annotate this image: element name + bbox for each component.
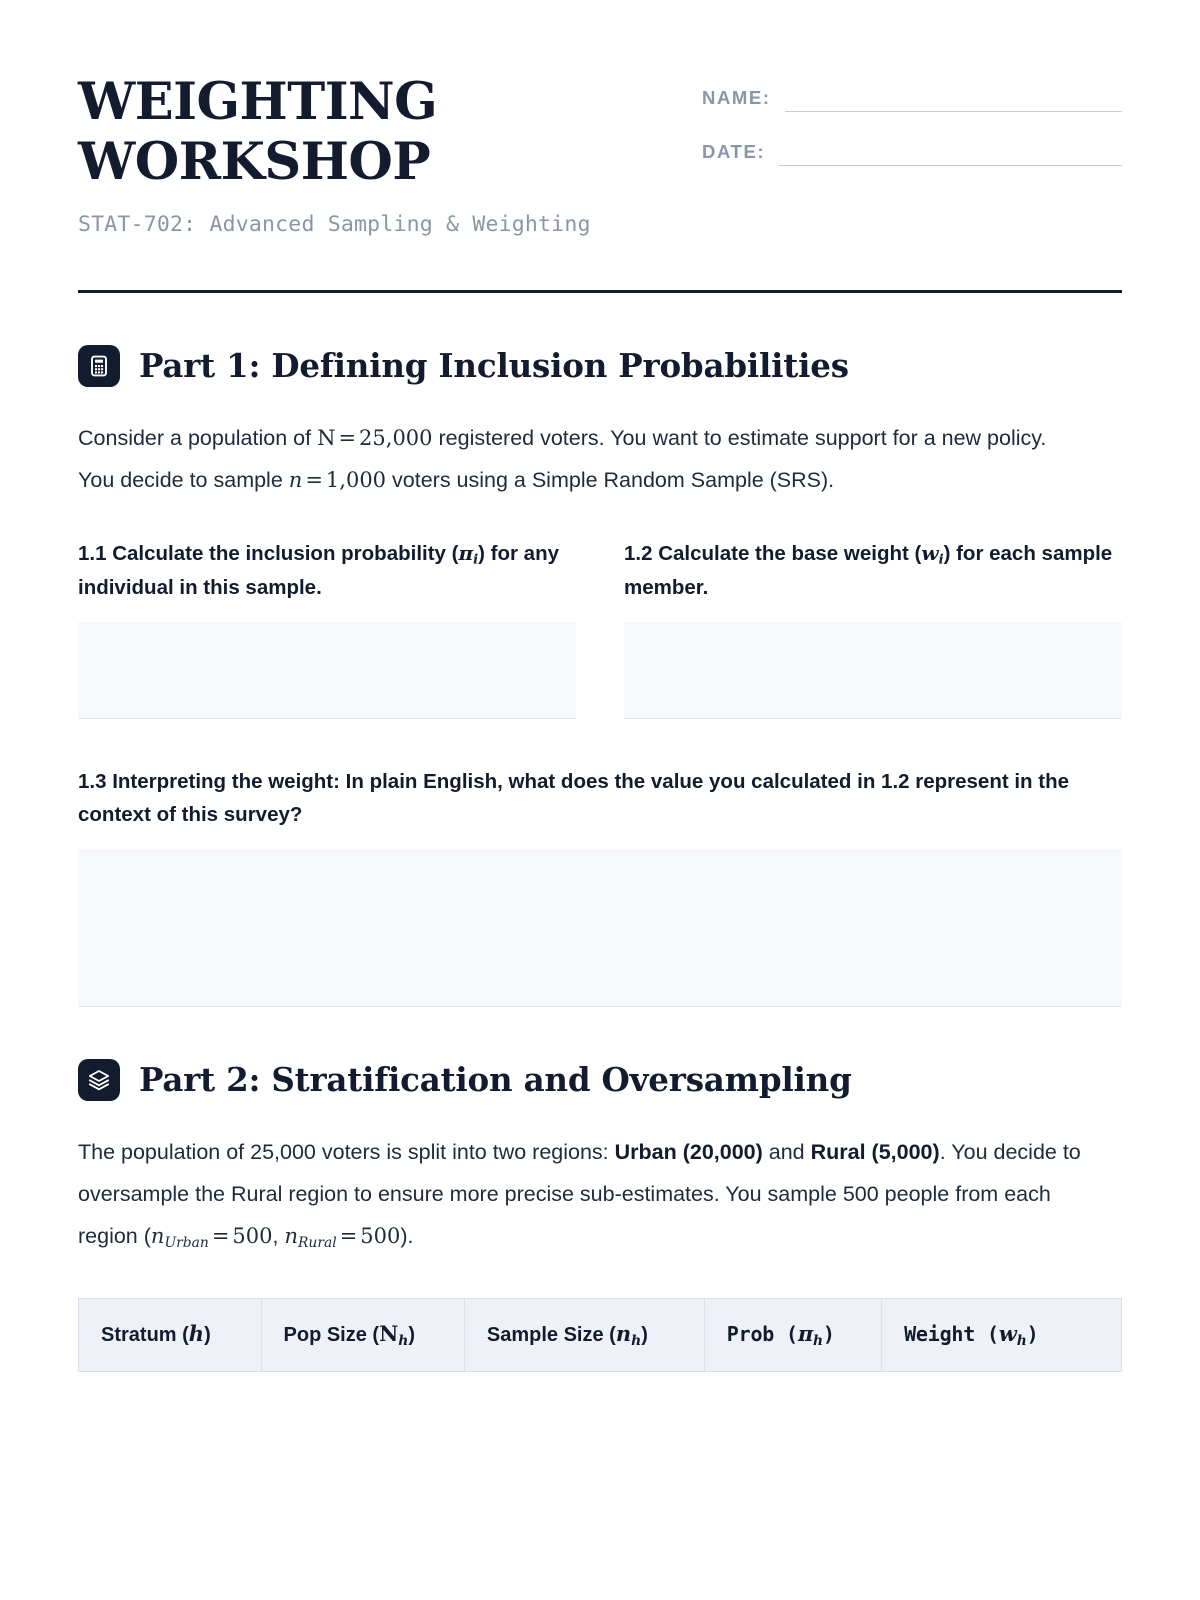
student-meta-block: NAME: DATE: [702, 66, 1122, 194]
p2-text-5: ). [400, 1224, 413, 1248]
col-header-sample-size: Sample Size (nh) [464, 1298, 704, 1371]
part-1-title: Part 1: Defining Inclusion Probabilities [139, 348, 849, 384]
col-header-weight-close: ) [1027, 1322, 1039, 1346]
intro-math-N: N=25,000 [317, 426, 432, 450]
q11-math-pi: πi [458, 541, 478, 565]
part-2-title: Part 2: Stratification and Oversampling [139, 1062, 852, 1098]
col-header-prob: Prob (πh) [704, 1298, 881, 1371]
name-row: NAME: [702, 86, 1122, 112]
date-label: DATE: [702, 141, 765, 166]
col-header-stratum-label: Stratum ( [101, 1324, 189, 1346]
document-header: WEIGHTING WORKSHOP STAT-702: Advanced Sa… [78, 66, 1122, 242]
p2-text-4: , [273, 1224, 285, 1248]
col-header-sample-size-sym: nh [616, 1321, 641, 1346]
question-1-1-label: 1.1 Calculate the inclusion probability … [78, 537, 576, 603]
col-header-prob-sym: πh [798, 1321, 823, 1346]
col-header-pop-size-sym: Nh [379, 1321, 408, 1346]
col-header-weight-sym: wh [999, 1321, 1027, 1346]
part-2-heading-row: Part 2: Stratification and Oversampling [78, 1059, 1122, 1101]
q12-text-1: 1.2 Calculate the base weight ( [624, 542, 921, 565]
answer-box-1-2[interactable] [624, 622, 1122, 719]
intro-math-n: n=1,000 [289, 468, 386, 492]
question-1-3-label: 1.3 Interpreting the weight: In plain En… [78, 765, 1122, 831]
col-header-prob-close: ) [823, 1322, 835, 1346]
header-divider [78, 290, 1122, 293]
part-1-heading-row: Part 1: Defining Inclusion Probabilities [78, 345, 1122, 387]
section-part-2: Part 2: Stratification and Oversampling … [78, 1059, 1122, 1372]
section-part-1: Part 1: Defining Inclusion Probabilities… [78, 345, 1122, 1007]
intro-text-3: voters using a Simple Random Sample (SRS… [386, 468, 834, 492]
col-header-sample-size-label: Sample Size ( [487, 1324, 616, 1346]
title-block: WEIGHTING WORKSHOP STAT-702: Advanced Sa… [78, 66, 638, 242]
name-input[interactable] [785, 86, 1122, 112]
course-subtitle: STAT-702: Advanced Sampling & Weighting [78, 209, 638, 242]
worksheet-page: WEIGHTING WORKSHOP STAT-702: Advanced Sa… [0, 0, 1200, 1600]
question-1-2-label: 1.2 Calculate the base weight (wi) for e… [624, 537, 1122, 603]
col-header-stratum: Stratum (h) [79, 1298, 262, 1371]
strata-table: Stratum (h) Pop Size (Nh) Sample Size (n… [78, 1298, 1122, 1372]
col-header-pop-size-close: ) [408, 1324, 415, 1346]
col-header-pop-size: Pop Size (Nh) [261, 1298, 464, 1371]
col-header-weight-label: Weight ( [904, 1322, 999, 1346]
p2-rural: Rural (5,000) [811, 1140, 940, 1164]
q11-text-1: 1.1 Calculate the inclusion probability … [78, 542, 458, 565]
part-1-intro: Consider a population of N=25,000 regist… [78, 417, 1088, 501]
question-1-3: 1.3 Interpreting the weight: In plain En… [78, 765, 1122, 1007]
question-1-1: 1.1 Calculate the inclusion probability … [78, 537, 576, 718]
p2-math-n-rural: nRural=500 [284, 1224, 400, 1248]
col-header-stratum-sym: h [189, 1321, 204, 1346]
question-1-2: 1.2 Calculate the base weight (wi) for e… [624, 537, 1122, 718]
col-header-prob-label: Prob ( [727, 1322, 798, 1346]
col-header-weight: Weight (wh) [882, 1298, 1122, 1371]
col-header-stratum-close: ) [204, 1324, 211, 1346]
calculator-icon [78, 345, 120, 387]
p2-urban: Urban (20,000) [615, 1140, 763, 1164]
col-header-pop-size-label: Pop Size ( [284, 1324, 380, 1346]
question-grid-1: 1.1 Calculate the inclusion probability … [78, 537, 1122, 718]
name-label: NAME: [702, 87, 771, 112]
p2-math-n-urban: nUrban=500 [151, 1224, 273, 1248]
date-input[interactable] [779, 140, 1122, 166]
part-2-intro: The population of 25,000 voters is split… [78, 1131, 1088, 1257]
date-row: DATE: [702, 140, 1122, 166]
page-title: WEIGHTING WORKSHOP [78, 72, 638, 192]
strata-table-wrap: Stratum (h) Pop Size (Nh) Sample Size (n… [78, 1298, 1122, 1372]
col-header-sample-size-close: ) [641, 1324, 648, 1346]
answer-box-1-1[interactable] [78, 622, 576, 719]
q12-math-w: wi [921, 541, 943, 565]
p2-text-1: The population of 25,000 voters is split… [78, 1140, 615, 1164]
layers-icon [78, 1059, 120, 1101]
answer-box-1-3[interactable] [78, 849, 1122, 1007]
p2-text-2: and [763, 1140, 811, 1164]
intro-text-1: Consider a population of [78, 426, 317, 450]
table-header-row: Stratum (h) Pop Size (Nh) Sample Size (n… [79, 1298, 1122, 1371]
